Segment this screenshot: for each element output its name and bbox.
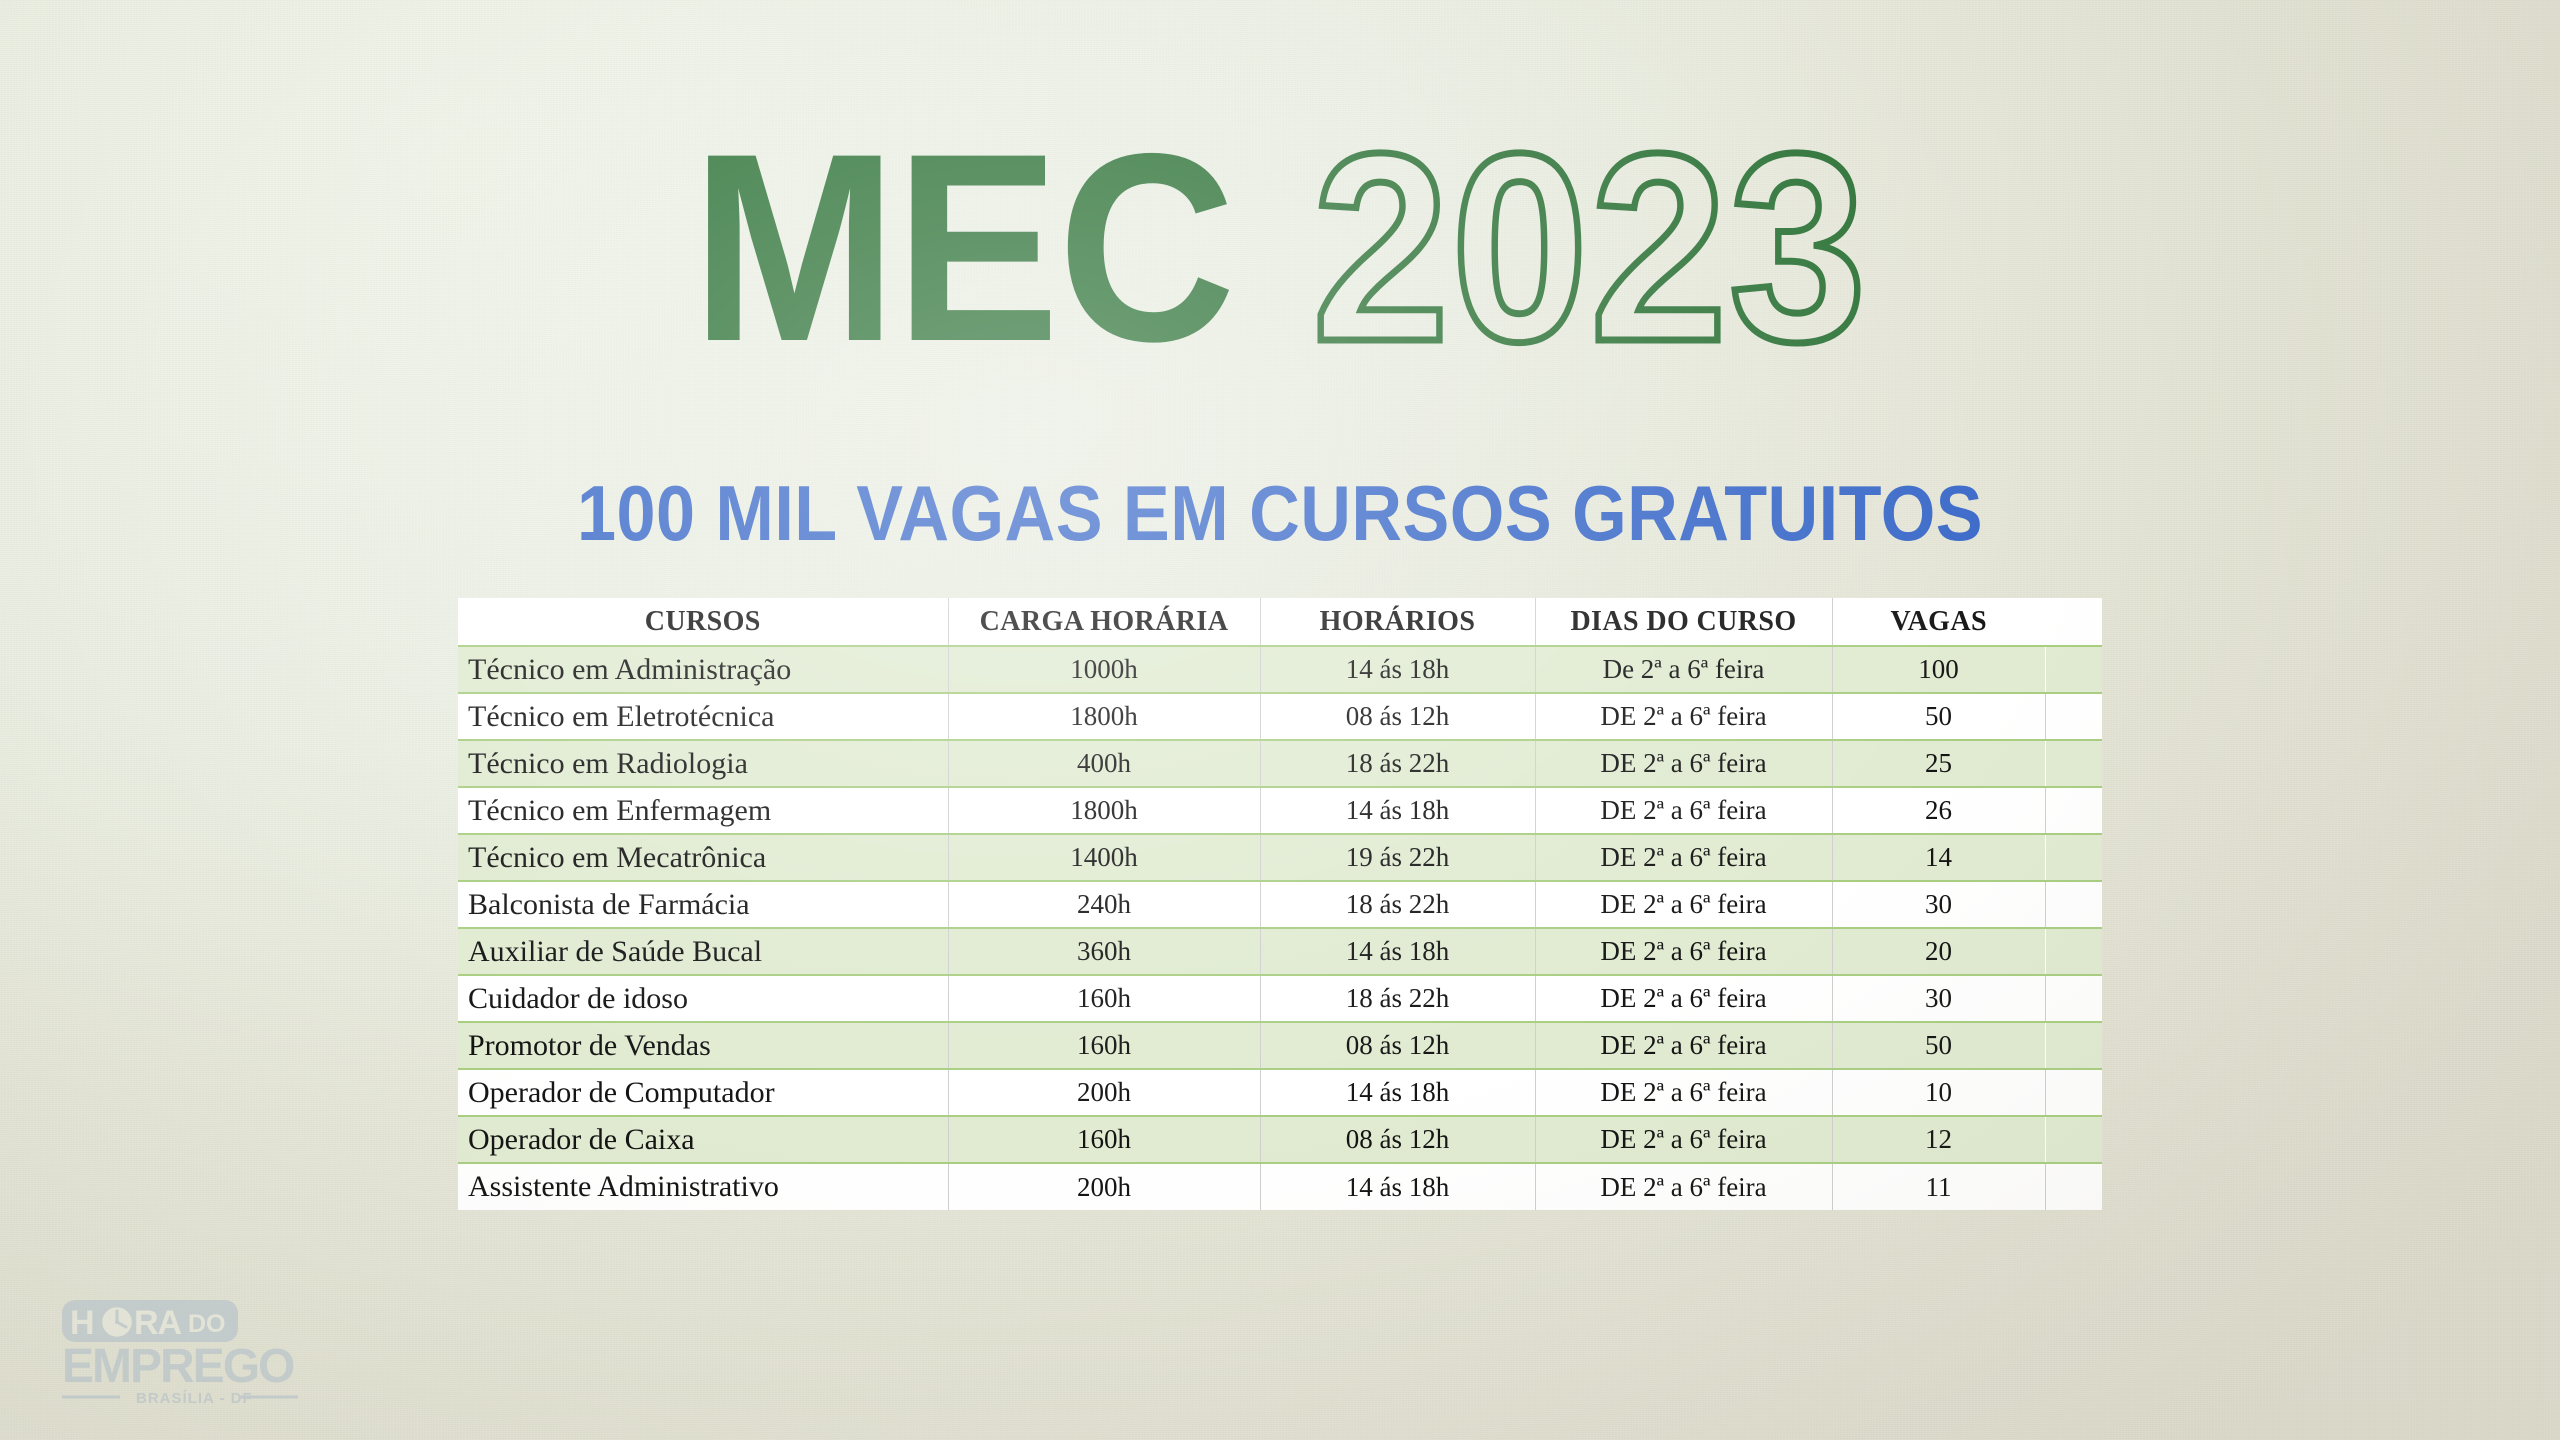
cell-vagas: 25 xyxy=(1832,740,2045,787)
cell-dias: DE 2ª a 6ª feira xyxy=(1535,881,1832,928)
cell-carga-horaria: 240h xyxy=(948,881,1260,928)
table-row[interactable]: Técnico em Enfermagem1800h14 ás 18hDE 2ª… xyxy=(458,787,2102,834)
page-subtitle: 100 MIL VAGAS EM CURSOS GRATUITOS xyxy=(128,468,2432,559)
cell-vagas: 50 xyxy=(1832,693,2045,740)
cell-spacer xyxy=(810,1116,948,1163)
cell-carga-horaria: 160h xyxy=(948,1116,1260,1163)
cell-spacer xyxy=(810,787,948,834)
courses-table: CURSOS CARGA HORÁRIA HORÁRIOS DIAS DO CU… xyxy=(458,598,2102,1210)
cell-curso: Cuidador de idoso xyxy=(458,975,810,1022)
cell-curso: Auxiliar de Saúde Bucal xyxy=(458,928,810,975)
cell-carga-horaria: 1800h xyxy=(948,693,1260,740)
title-year: 2023 xyxy=(1312,124,1868,371)
cell-spacer xyxy=(810,1022,948,1069)
cell-tail-spacer xyxy=(2045,834,2102,881)
table-row[interactable]: Técnico em Eletrotécnica1800h08 ás 12hDE… xyxy=(458,693,2102,740)
cell-tail-spacer xyxy=(2045,787,2102,834)
cell-curso: Assistente Administrativo xyxy=(458,1163,810,1210)
cell-dias: DE 2ª a 6ª feira xyxy=(1535,834,1832,881)
table-row[interactable]: Cuidador de idoso160h18 ás 22hDE 2ª a 6ª… xyxy=(458,975,2102,1022)
cell-dias: DE 2ª a 6ª feira xyxy=(1535,975,1832,1022)
table-row[interactable]: Assistente Administrativo200h14 ás 18hDE… xyxy=(458,1163,2102,1210)
cell-carga-horaria: 160h xyxy=(948,1022,1260,1069)
logo-text-hora: H xyxy=(70,1304,94,1342)
table-row[interactable]: Auxiliar de Saúde Bucal360h14 ás 18hDE 2… xyxy=(458,928,2102,975)
cell-spacer xyxy=(810,928,948,975)
table-header: CURSOS CARGA HORÁRIA HORÁRIOS DIAS DO CU… xyxy=(458,598,2102,646)
column-header-spacer xyxy=(2045,598,2102,646)
cell-vagas: 26 xyxy=(1832,787,2045,834)
cell-carga-horaria: 1000h xyxy=(948,646,1260,693)
table-row[interactable]: Técnico em Mecatrônica1400h19 ás 22hDE 2… xyxy=(458,834,2102,881)
cell-curso: Técnico em Radiologia xyxy=(458,740,810,787)
cell-spacer xyxy=(810,1163,948,1210)
cell-dias: De 2ª a 6ª feira xyxy=(1535,646,1832,693)
table-row[interactable]: Balconista de Farmácia240h18 ás 22hDE 2ª… xyxy=(458,881,2102,928)
cell-horario: 18 ás 22h xyxy=(1260,740,1535,787)
cell-dias: DE 2ª a 6ª feira xyxy=(1535,1022,1832,1069)
table-body: Técnico em Administração1000h14 ás 18hDe… xyxy=(458,646,2102,1210)
logo-text-location: BRASÍLIA - DF xyxy=(136,1390,253,1407)
column-header-dias-do-curso: DIAS DO CURSO xyxy=(1535,598,1832,646)
table-row[interactable]: Operador de Caixa160h08 ás 12hDE 2ª a 6ª… xyxy=(458,1116,2102,1163)
cell-horario: 14 ás 18h xyxy=(1260,787,1535,834)
cell-tail-spacer xyxy=(2045,693,2102,740)
cell-carga-horaria: 1400h xyxy=(948,834,1260,881)
cell-vagas: 12 xyxy=(1832,1116,2045,1163)
cell-vagas: 20 xyxy=(1832,928,2045,975)
cell-tail-spacer xyxy=(2045,881,2102,928)
cell-curso: Técnico em Administração xyxy=(458,646,810,693)
cell-spacer xyxy=(810,693,948,740)
page-title: MEC2023 xyxy=(0,124,2560,371)
cell-spacer xyxy=(810,975,948,1022)
cell-horario: 18 ás 22h xyxy=(1260,881,1535,928)
cell-tail-spacer xyxy=(2045,928,2102,975)
cell-curso: Técnico em Eletrotécnica xyxy=(458,693,810,740)
cell-carga-horaria: 1800h xyxy=(948,787,1260,834)
table-row[interactable]: Técnico em Administração1000h14 ás 18hDe… xyxy=(458,646,2102,693)
cell-spacer xyxy=(810,1069,948,1116)
cell-vagas: 50 xyxy=(1832,1022,2045,1069)
cell-curso: Técnico em Enfermagem xyxy=(458,787,810,834)
title-mec: MEC xyxy=(692,124,1234,371)
cell-dias: DE 2ª a 6ª feira xyxy=(1535,740,1832,787)
cell-curso: Técnico em Mecatrônica xyxy=(458,834,810,881)
cell-carga-horaria: 160h xyxy=(948,975,1260,1022)
cell-vagas: 100 xyxy=(1832,646,2045,693)
cell-tail-spacer xyxy=(2045,975,2102,1022)
cell-vagas: 30 xyxy=(1832,975,2045,1022)
column-header-cursos: CURSOS xyxy=(458,598,948,646)
cell-dias: DE 2ª a 6ª feira xyxy=(1535,693,1832,740)
cell-spacer xyxy=(810,740,948,787)
cell-dias: DE 2ª a 6ª feira xyxy=(1535,787,1832,834)
hora-do-emprego-logo: H RA DO EMPREGO BRASÍLIA - DF xyxy=(48,1296,312,1412)
cell-carga-horaria: 400h xyxy=(948,740,1260,787)
cell-tail-spacer xyxy=(2045,1163,2102,1210)
cell-tail-spacer xyxy=(2045,1022,2102,1069)
cell-spacer xyxy=(810,646,948,693)
cell-curso: Promotor de Vendas xyxy=(458,1022,810,1069)
cell-spacer xyxy=(810,834,948,881)
logo-text-emprego: EMPREGO xyxy=(62,1340,294,1393)
cell-horario: 14 ás 18h xyxy=(1260,646,1535,693)
cell-horario: 19 ás 22h xyxy=(1260,834,1535,881)
courses-table-container: CURSOS CARGA HORÁRIA HORÁRIOS DIAS DO CU… xyxy=(458,598,2102,1210)
cell-curso: Operador de Caixa xyxy=(458,1116,810,1163)
cell-horario: 14 ás 18h xyxy=(1260,1069,1535,1116)
column-header-carga-horaria: CARGA HORÁRIA xyxy=(948,598,1260,646)
cell-tail-spacer xyxy=(2045,1116,2102,1163)
table-header-row: CURSOS CARGA HORÁRIA HORÁRIOS DIAS DO CU… xyxy=(458,598,2102,646)
cell-spacer xyxy=(810,881,948,928)
cell-horario: 08 ás 12h xyxy=(1260,1116,1535,1163)
logo-text-ra: RA xyxy=(134,1304,182,1342)
cell-dias: DE 2ª a 6ª feira xyxy=(1535,1116,1832,1163)
cell-carga-horaria: 360h xyxy=(948,928,1260,975)
cell-horario: 14 ás 18h xyxy=(1260,928,1535,975)
cell-vagas: 11 xyxy=(1832,1163,2045,1210)
cell-horario: 14 ás 18h xyxy=(1260,1163,1535,1210)
cell-curso: Operador de Computador xyxy=(458,1069,810,1116)
cell-dias: DE 2ª a 6ª feira xyxy=(1535,928,1832,975)
cell-vagas: 30 xyxy=(1832,881,2045,928)
cell-dias: DE 2ª a 6ª feira xyxy=(1535,1069,1832,1116)
cell-carga-horaria: 200h xyxy=(948,1163,1260,1210)
cell-curso: Balconista de Farmácia xyxy=(458,881,810,928)
column-header-vagas: VAGAS xyxy=(1832,598,2045,646)
cell-vagas: 14 xyxy=(1832,834,2045,881)
column-header-horarios: HORÁRIOS xyxy=(1260,598,1535,646)
cell-horario: 18 ás 22h xyxy=(1260,975,1535,1022)
table-row[interactable]: Técnico em Radiologia400h18 ás 22hDE 2ª … xyxy=(458,740,2102,787)
cell-tail-spacer xyxy=(2045,646,2102,693)
clock-icon xyxy=(101,1306,133,1338)
logo-text-do: DO xyxy=(188,1310,226,1338)
cell-horario: 08 ás 12h xyxy=(1260,693,1535,740)
cell-vagas: 10 xyxy=(1832,1069,2045,1116)
cell-tail-spacer xyxy=(2045,740,2102,787)
table-row[interactable]: Promotor de Vendas160h08 ás 12hDE 2ª a 6… xyxy=(458,1022,2102,1069)
cell-carga-horaria: 200h xyxy=(948,1069,1260,1116)
cell-tail-spacer xyxy=(2045,1069,2102,1116)
cell-horario: 08 ás 12h xyxy=(1260,1022,1535,1069)
table-row[interactable]: Operador de Computador200h14 ás 18hDE 2ª… xyxy=(458,1069,2102,1116)
cell-dias: DE 2ª a 6ª feira xyxy=(1535,1163,1832,1210)
